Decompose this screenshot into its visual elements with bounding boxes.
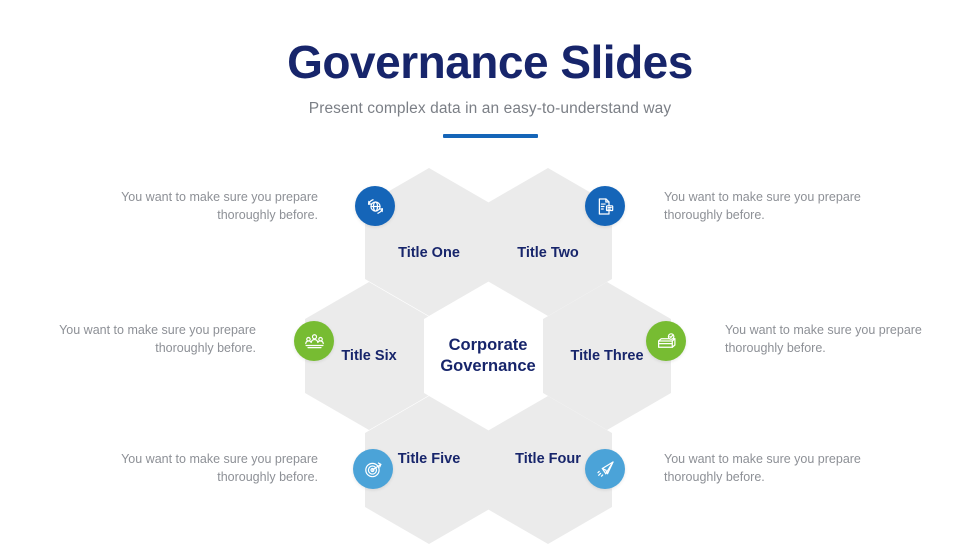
badge-five[interactable] (353, 449, 393, 489)
people-group-icon (304, 331, 325, 352)
hex-label-three: Title Three (570, 347, 643, 365)
globe-exchange-icon (365, 196, 386, 217)
badge-three[interactable] (646, 321, 686, 361)
target-arrow-icon (363, 459, 384, 480)
badge-two[interactable] (585, 186, 625, 226)
hex-label-one: Title One (398, 244, 460, 262)
hex-label-five: Title Five (398, 450, 461, 468)
hex-label-six: Title Six (341, 347, 396, 365)
paper-plane-icon (595, 459, 616, 480)
hex-label-four: Title Four (515, 450, 581, 468)
description-six: You want to make sure you prepare thorou… (26, 321, 256, 357)
hex-label-center: Corporate Governance (440, 335, 535, 376)
briefcase-check-icon (656, 331, 677, 352)
description-five: You want to make sure you prepare thorou… (88, 450, 318, 486)
hex-label-two: Title Two (517, 244, 579, 262)
description-one: You want to make sure you prepare thorou… (88, 188, 318, 224)
badge-four[interactable] (585, 449, 625, 489)
badge-six[interactable] (294, 321, 334, 361)
slide-canvas: Governance Slides Present complex data i… (0, 0, 980, 551)
center-label-line1: Corporate (449, 336, 528, 354)
document-report-icon (595, 196, 616, 217)
description-four: You want to make sure you prepare thorou… (664, 450, 894, 486)
center-label-line2: Governance (440, 357, 535, 375)
description-two: You want to make sure you prepare thorou… (664, 188, 894, 224)
description-three: You want to make sure you prepare thorou… (725, 321, 955, 357)
badge-one[interactable] (355, 186, 395, 226)
